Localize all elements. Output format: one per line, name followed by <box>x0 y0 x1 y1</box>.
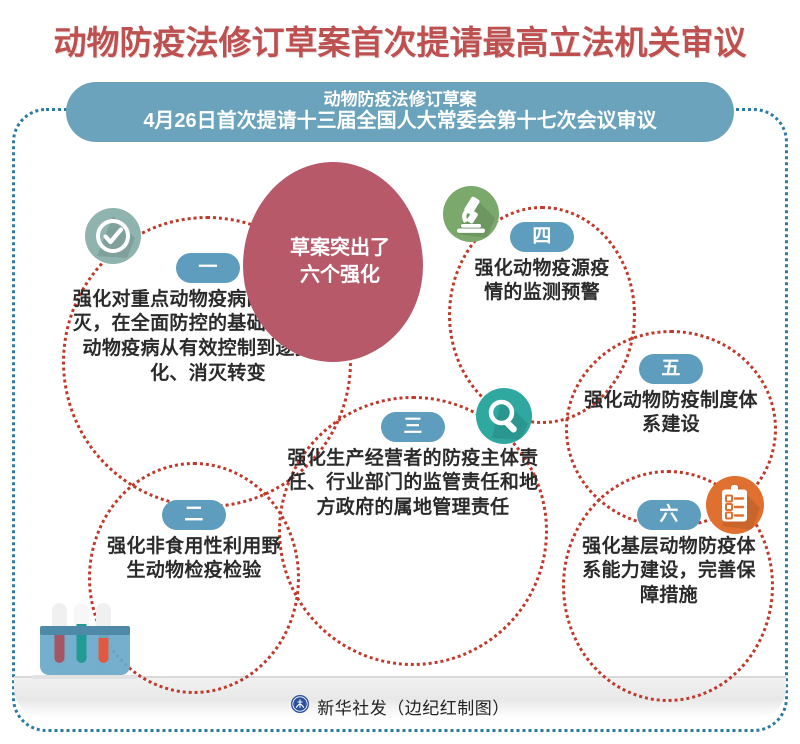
center-line-2: 六个强化 <box>300 262 380 289</box>
microscope-icon <box>443 186 499 242</box>
section-5-text: 强化动物防疫制度体系建设 <box>568 389 774 438</box>
section-6-number: 六 <box>637 500 700 530</box>
section-5-number: 五 <box>639 354 702 384</box>
section-2-number: 二 <box>162 500 225 530</box>
section-4-text: 强化动物疫源疫情的监测预警 <box>452 257 632 306</box>
page-title: 动物防疫法修订草案首次提请最高立法机关审议 <box>0 16 800 64</box>
magnifier-icon <box>476 388 532 444</box>
section-6-text: 强化基层动物防疫体系能力建设，完善保障措施 <box>566 535 772 609</box>
footer-credit: 新华社发（边纪红制图） <box>0 694 800 719</box>
section-2: 二 强化非食用性利用野生动物检疫检验 <box>92 500 296 584</box>
section-3-number: 三 <box>381 412 444 442</box>
section-2-text: 强化非食用性利用野生动物检疫检验 <box>92 535 296 584</box>
subtitle-banner: 动物防疫法修订草案 4月26日首次提请十三届全国人大常委会第十七次会议审议 <box>66 82 734 142</box>
infographic-canvas: 动物防疫法修订草案首次提请最高立法机关审议 动物防疫法修订草案 4月26日首次提… <box>0 0 800 744</box>
banner-line-2: 4月26日首次提请十三届全国人大常委会第十七次会议审议 <box>143 110 656 134</box>
center-highlight-blob: 草案突出了 六个强化 <box>243 162 423 362</box>
test-tube-rack-illustration <box>30 600 140 682</box>
clipboard-icon <box>706 476 764 534</box>
credit-text: 新华社发（边纪红制图） <box>317 694 510 719</box>
section-3-text: 强化生产经营者的防疫主体责任、行业部门的监管责任和地方政府的属地管理责任 <box>282 447 544 521</box>
banner-line-1: 动物防疫法修订草案 <box>324 90 477 110</box>
check-circle-icon <box>85 208 141 264</box>
center-line-1: 草案突出了 <box>290 235 390 262</box>
xinhua-logo-icon <box>290 694 310 719</box>
section-4-number: 四 <box>510 222 573 252</box>
section-1-number: 一 <box>176 253 239 283</box>
section-5: 五 强化动物防疫制度体系建设 <box>568 354 774 438</box>
